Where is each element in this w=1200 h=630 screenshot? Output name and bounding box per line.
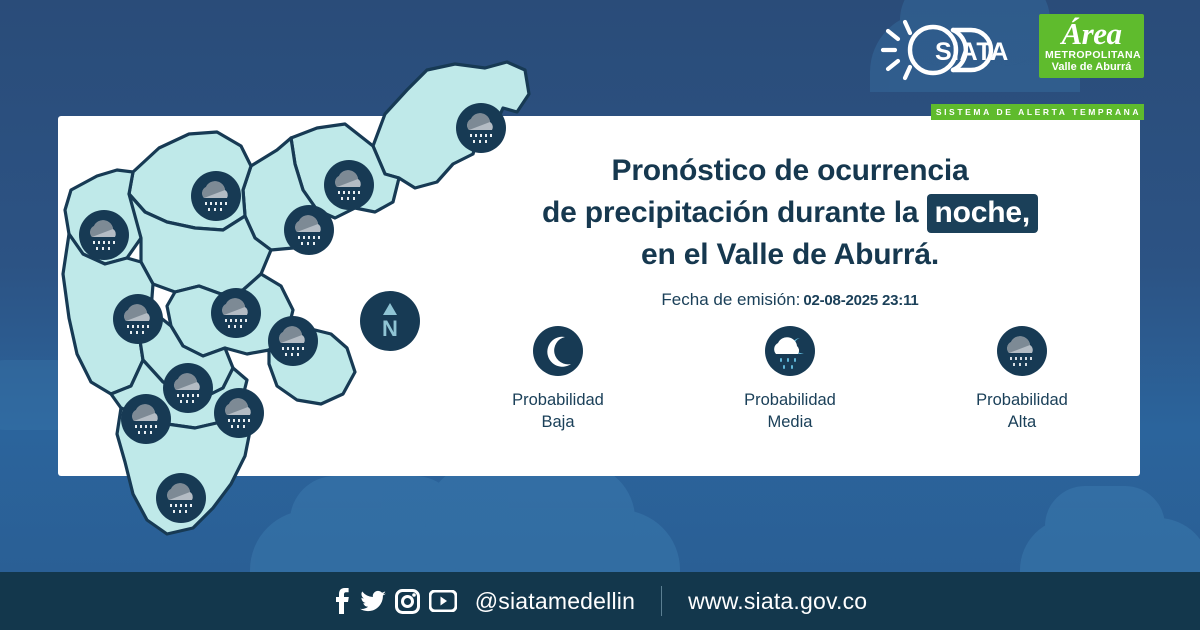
logo-group: SIATA Área METROPOLITANA Valle de Aburrá… [875, 14, 1144, 86]
marker-copacabana[interactable] [283, 204, 335, 256]
legend-item-alta: Probabilidad Alta [947, 325, 1097, 433]
marker-san-pedro[interactable] [190, 170, 242, 222]
facebook-icon[interactable] [333, 588, 351, 614]
legend-baja-line2: Baja [483, 411, 633, 433]
twitter-icon[interactable] [360, 588, 386, 614]
ama-metropolitana-label: METROPOLITANA [1045, 49, 1138, 61]
sun-cloud-icon: SIATA [875, 14, 1025, 86]
footer-divider [661, 586, 662, 616]
alerta-temprana-banner: SISTEMA DE ALERTA TEMPRANA [931, 104, 1144, 120]
title-line-3: en el Valle de Aburrá. [470, 234, 1110, 276]
area-metropolitana-logo: Área METROPOLITANA Valle de Aburrá [1039, 14, 1144, 78]
emission-date-value: 02-08-2025 23:11 [803, 292, 918, 309]
marker-bello[interactable] [210, 287, 262, 339]
page-title: Pronóstico de ocurrencia de precipitació… [470, 150, 1110, 276]
legend-media-line2: Media [715, 411, 865, 433]
compass-rose: N [358, 289, 422, 353]
marker-caldas[interactable] [155, 472, 207, 524]
emission-date: Fecha de emisión:02-08-2025 23:11 [470, 290, 1110, 310]
instagram-icon[interactable] [395, 589, 420, 614]
marker-sabaneta[interactable] [120, 393, 172, 445]
marker-envigado[interactable] [213, 387, 265, 439]
moon-icon [532, 325, 584, 377]
title-line-2: de precipitación durante la noche, [470, 192, 1110, 234]
social-handle[interactable]: @siatamedellin [475, 588, 635, 615]
legend-alta-line1: Probabilidad [947, 389, 1097, 411]
emission-date-label: Fecha de emisión: [661, 290, 800, 309]
legend-label-alta: Probabilidad Alta [947, 389, 1097, 433]
valle-de-aburra-map: N [55, 42, 535, 572]
cloud-moon-rain-icon [764, 325, 816, 377]
youtube-icon[interactable] [429, 590, 457, 612]
cloud-rain-icon [155, 472, 207, 524]
forecast-panel: Pronóstico de ocurrencia de precipitació… [470, 150, 1110, 310]
svg-text:SIATA: SIATA [935, 38, 1009, 66]
north-arrow-icon: N [358, 289, 422, 353]
ama-area-label: Área [1045, 19, 1138, 49]
background-cloud-right [1020, 518, 1200, 574]
marker-medellin[interactable] [267, 315, 319, 367]
legend-item-baja: Probabilidad Baja [483, 325, 633, 433]
legend-label-media: Probabilidad Media [715, 389, 865, 433]
legend-media-line1: Probabilidad [715, 389, 865, 411]
legend-item-media: Probabilidad Media [715, 325, 865, 433]
footer-bar: @siatamedellin www.siata.gov.co [0, 572, 1200, 630]
probability-legend: Probabilidad Baja [470, 325, 1110, 433]
cloud-rain-icon [210, 287, 262, 339]
cloud-rain-icon [190, 170, 242, 222]
siata-logo: SIATA [875, 14, 1025, 86]
infographic-root: SIATA Área METROPOLITANA Valle de Aburrá… [0, 0, 1200, 630]
cloud-rain-icon [996, 325, 1048, 377]
cloud-rain-icon [120, 393, 172, 445]
legend-alta-line2: Alta [947, 411, 1097, 433]
title-line-2-text: de precipitación durante la [542, 196, 927, 229]
marker-medellin-norte[interactable] [112, 293, 164, 345]
marker-bello-norte[interactable] [78, 209, 130, 261]
cloud-rain-icon [283, 204, 335, 256]
cloud-rain-icon [267, 315, 319, 367]
legend-baja-line1: Probabilidad [483, 389, 633, 411]
legend-label-baja: Probabilidad Baja [483, 389, 633, 433]
cloud-rain-icon [78, 209, 130, 261]
cloud-rain-icon [455, 102, 507, 154]
ama-valle-label: Valle de Aburrá [1045, 61, 1138, 73]
cloud-rain-icon [213, 387, 265, 439]
marker-barbosa[interactable] [455, 102, 507, 154]
social-icons [333, 588, 457, 614]
compass-label: N [382, 316, 398, 341]
website-url[interactable]: www.siata.gov.co [688, 588, 867, 615]
cloud-rain-icon [112, 293, 164, 345]
title-line-1: Pronóstico de ocurrencia [470, 150, 1110, 192]
title-highlight-noche: noche, [927, 194, 1038, 233]
